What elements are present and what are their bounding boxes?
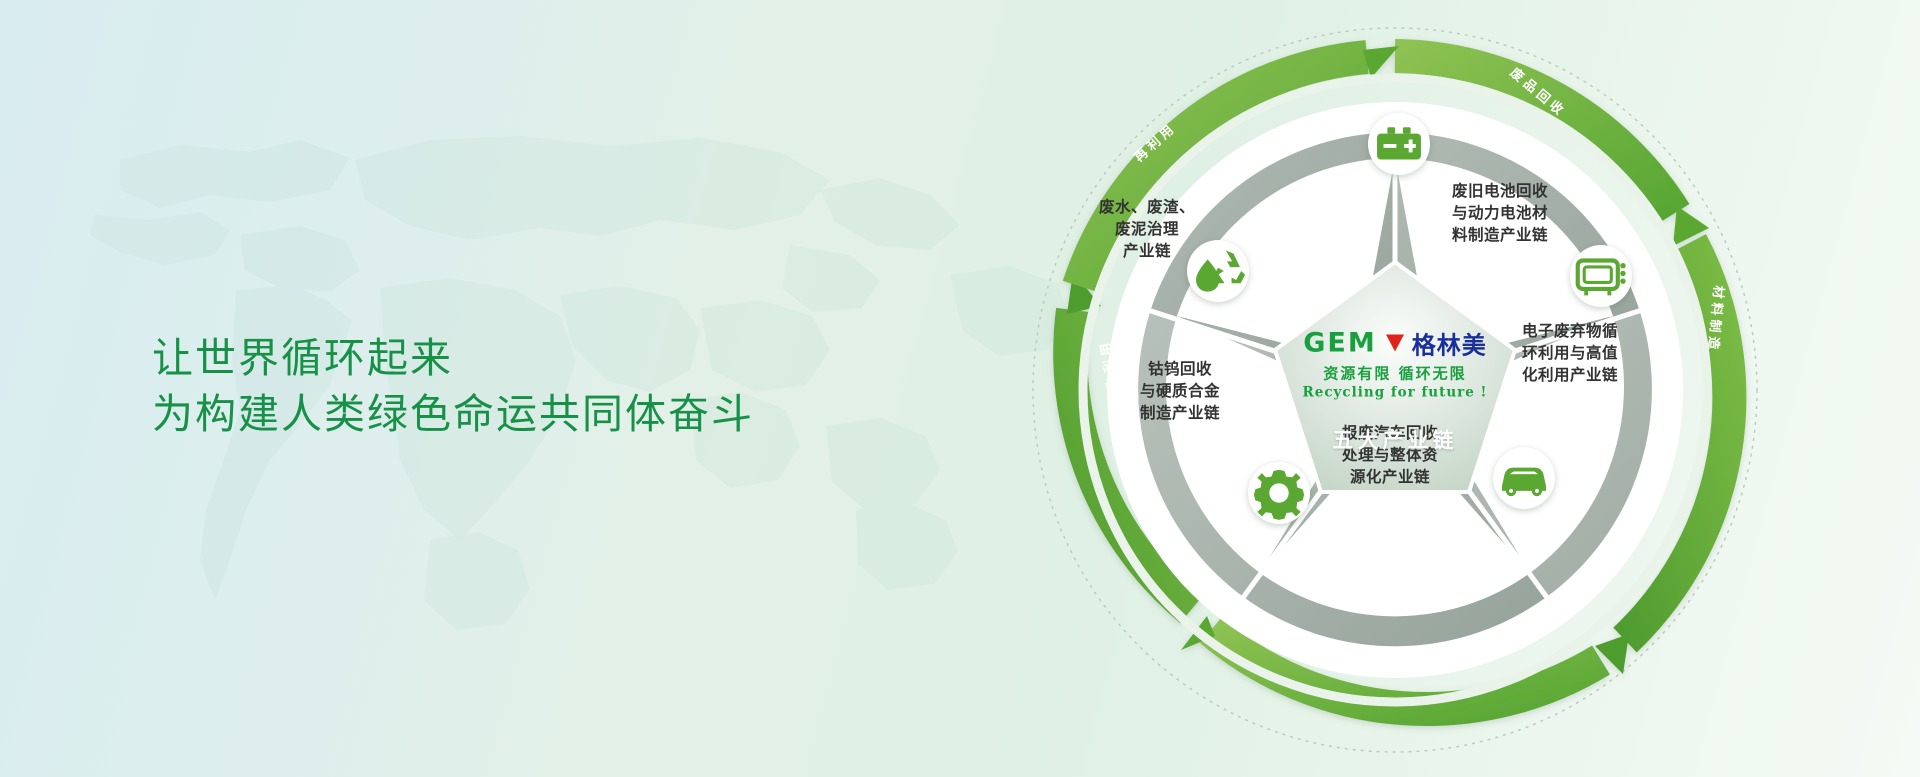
badge-car[interactable] — [1493, 447, 1555, 509]
car-icon — [1493, 447, 1555, 509]
battery-icon — [1368, 113, 1430, 175]
television-icon — [1570, 245, 1632, 307]
banner-root: 让世界循环起来 为构建人类绿色命运共同体奋斗 — [0, 0, 1920, 777]
slogan-block: 让世界循环起来 为构建人类绿色命运共同体奋斗 — [152, 330, 754, 442]
recycle-drop-icon — [1187, 240, 1249, 302]
industry-chain-diagram: 废水、废渣、 废泥治理 产业链 废旧电池回收 与动力电池材 料制造产业链 电子废… — [1015, 10, 1775, 770]
slogan-line-1: 让世界循环起来 — [152, 330, 754, 386]
slogan-line-2: 为构建人类绿色命运共同体奋斗 — [152, 386, 754, 442]
gear-icon — [1248, 462, 1310, 524]
badge-battery[interactable] — [1368, 113, 1430, 175]
badge-television[interactable] — [1570, 245, 1632, 307]
badge-gear[interactable] — [1248, 462, 1310, 524]
badge-recycle-drop[interactable] — [1187, 240, 1249, 302]
